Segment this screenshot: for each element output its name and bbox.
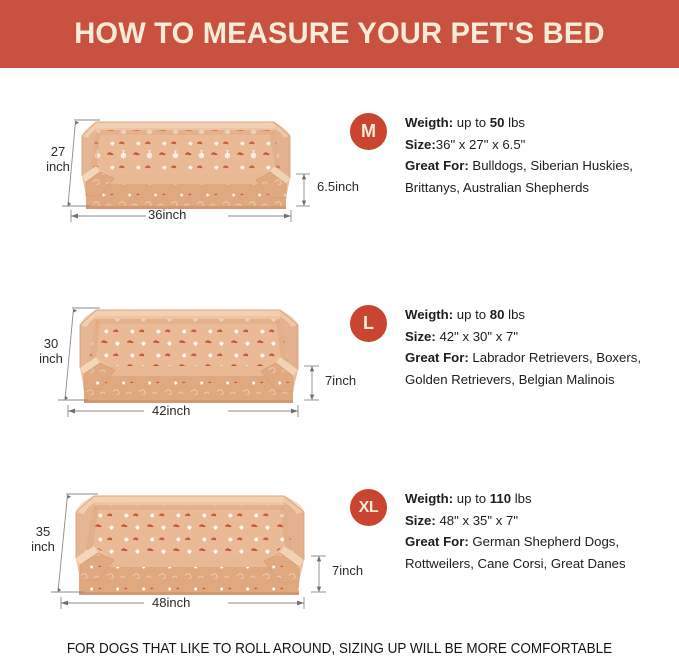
size-badge-m: M (350, 113, 387, 150)
weight-value-m: 50 (490, 115, 505, 130)
dim-depth-label-xl: 35 inch (22, 524, 64, 554)
greatfor-line2-xl: Rottweilers, Cane Corsi, Great Danes (405, 553, 626, 575)
weight-prefix-l: up to (457, 307, 486, 322)
bed-illustration-m (38, 102, 338, 237)
size-label-xl: Size: (405, 513, 436, 528)
size-line-m: Size:36" x 27" x 6.5" (405, 134, 633, 156)
weight-label-xl: Weigth: (405, 491, 453, 506)
weight-label-m: Weigth: (405, 115, 453, 130)
greatfor-line1-xl: Great For: German Shepherd Dogs, (405, 531, 626, 553)
greatfor-text1-m: Bulldogs, Siberian Huskies, (472, 158, 633, 173)
size-line-xl: Size: 48" x 35" x 7" (405, 510, 626, 532)
size-line-l: Size: 42" x 30" x 7" (405, 326, 641, 348)
greatfor-label-xl: Great For: (405, 534, 469, 549)
weight-value-xl: 110 (490, 491, 511, 506)
size-row-l: 30 inch 7inch 42inch L Weigth: up to 80 … (0, 288, 679, 438)
size-details-m: Weigth: up to 50 lbs Size:36" x 27" x 6.… (405, 112, 633, 198)
size-label-m: Size: (405, 137, 436, 152)
dim-width-label-l: 42inch (152, 404, 190, 419)
weight-line-xl: Weigth: up to 110 lbs (405, 488, 626, 510)
weight-line-m: Weigth: up to 50 lbs (405, 112, 633, 134)
dim-width-value-xl: 48inch (152, 595, 190, 610)
dim-depth-unit-m: inch (38, 159, 78, 174)
size-value-xl: 48" x 35" x 7" (439, 513, 518, 528)
dim-depth-label-m: 27 inch (38, 144, 78, 174)
size-info-l: L Weigth: up to 80 lbs Size: 42" x 30" x… (350, 304, 641, 390)
weight-value-l: 80 (490, 307, 505, 322)
size-badge-l: L (350, 305, 387, 342)
dim-depth-value-m: 27 (38, 144, 78, 159)
dim-width-label-xl: 48inch (152, 596, 190, 611)
weight-unit-l: lbs (508, 307, 525, 322)
bed-drawing-m (38, 102, 338, 237)
dim-depth-label-l: 30 inch (30, 336, 72, 366)
dim-depth-unit-l: inch (30, 351, 72, 366)
greatfor-line2-m: Brittanys, Australian Shepherds (405, 177, 633, 199)
size-badge-label-m: M (361, 121, 376, 142)
page-title: HOW TO MEASURE YOUR PET'S BED (74, 17, 604, 51)
size-row-m: 27 inch 6.5inch 36inch M Weigth: up to 5… (0, 96, 679, 246)
size-badge-label-xl: XL (359, 499, 379, 517)
weight-unit-xl: lbs (515, 491, 532, 506)
size-details-xl: Weigth: up to 110 lbs Size: 48" x 35" x … (405, 488, 626, 574)
greatfor-line1-l: Great For: Labrador Retrievers, Boxers, (405, 347, 641, 369)
greatfor-text1-xl: German Shepherd Dogs, (472, 534, 619, 549)
dim-width-value-m: 36inch (148, 207, 186, 222)
dim-depth-value-l: 30 (30, 336, 72, 351)
greatfor-label-l: Great For: (405, 350, 469, 365)
weight-prefix-m: up to (457, 115, 486, 130)
size-row-xl: 35 inch 7inch 48inch XL Weigth: up to 11… (0, 472, 679, 632)
weight-unit-m: lbs (508, 115, 525, 130)
size-value-m: 36" x 27" x 6.5" (436, 137, 526, 152)
dim-width-label-m: 36inch (148, 208, 186, 223)
size-badge-xl: XL (350, 489, 387, 526)
header-banner: HOW TO MEASURE YOUR PET'S BED (0, 0, 679, 68)
dim-width-value-l: 42inch (152, 403, 190, 418)
size-label-l: Size: (405, 329, 436, 344)
size-details-l: Weigth: up to 80 lbs Size: 42" x 30" x 7… (405, 304, 641, 390)
greatfor-line2-l: Golden Retrievers, Belgian Malinois (405, 369, 641, 391)
size-badge-label-l: L (363, 313, 374, 334)
greatfor-label-m: Great For: (405, 158, 469, 173)
footer-note: FOR DOGS THAT LIKE TO ROLL AROUND, SIZIN… (34, 640, 645, 657)
dim-depth-value-xl: 35 (22, 524, 64, 539)
greatfor-line1-m: Great For: Bulldogs, Siberian Huskies, (405, 155, 633, 177)
weight-prefix-xl: up to (457, 491, 486, 506)
dim-depth-unit-xl: inch (22, 539, 64, 554)
size-value-l: 42" x 30" x 7" (439, 329, 518, 344)
size-info-xl: XL Weigth: up to 110 lbs Size: 48" x 35"… (350, 488, 626, 574)
size-info-m: M Weigth: up to 50 lbs Size:36" x 27" x … (350, 112, 633, 198)
weight-label-l: Weigth: (405, 307, 453, 322)
weight-line-l: Weigth: up to 80 lbs (405, 304, 641, 326)
greatfor-text1-l: Labrador Retrievers, Boxers, (472, 350, 641, 365)
